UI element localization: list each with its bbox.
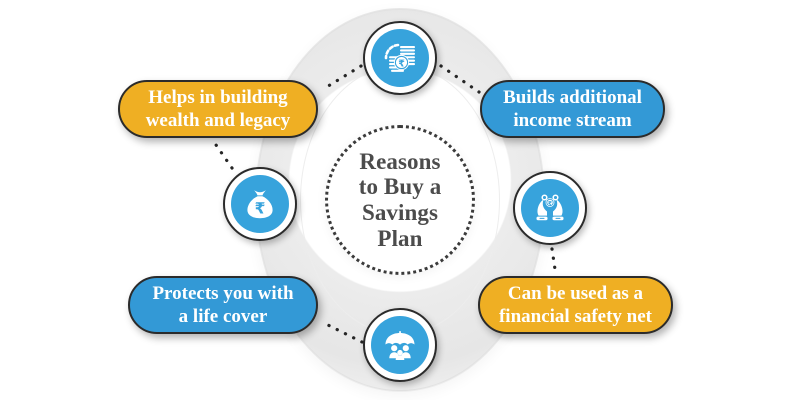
hub-title-line-2: to Buy a [359, 174, 442, 200]
label-line-2: a life cover [152, 305, 293, 328]
svg-text:₹: ₹ [398, 58, 405, 69]
node-left[interactable]: ₹ [223, 167, 297, 241]
connector-right-to-bottomright [552, 249, 556, 276]
label-pill-bottom-left[interactable]: Protects you with a life cover [128, 276, 318, 334]
label-line-2: financial safety net [499, 305, 652, 328]
label-line-1: Builds additional [503, 86, 642, 109]
hands-holding-coins-icon: ₹ [530, 188, 570, 228]
hub-title-line-4: Plan [359, 226, 442, 252]
label-pill-top-left[interactable]: Helps in building wealth and legacy [118, 80, 318, 138]
center-hub: Reasons to Buy a Savings Plan [325, 125, 475, 275]
hub-title-line-1: Reasons [359, 149, 442, 175]
label-pill-bottom-left-text: Protects you with a life cover [152, 282, 293, 328]
node-right-disc: ₹ [521, 179, 579, 237]
label-line-2: wealth and legacy [146, 109, 291, 132]
savings-plan-infographic: Reasons to Buy a Savings Plan [0, 0, 800, 400]
center-hub-title: Reasons to Buy a Savings Plan [349, 149, 452, 252]
svg-text:₹: ₹ [255, 199, 266, 217]
node-top[interactable]: ₹ [363, 21, 437, 95]
label-line-1: Helps in building [146, 86, 291, 109]
family-umbrella-icon [380, 325, 420, 365]
label-pill-top-left-text: Helps in building wealth and legacy [146, 86, 291, 132]
money-bag-rupee-icon: ₹ [240, 184, 280, 224]
svg-text:₹: ₹ [548, 200, 552, 207]
node-bottom-disc [371, 316, 429, 374]
label-line-1: Protects you with [152, 282, 293, 305]
node-right[interactable]: ₹ [513, 171, 587, 245]
label-line-1: Can be used as a [499, 282, 652, 305]
label-pill-top-right[interactable]: Builds additional income stream [480, 80, 665, 138]
connector-left-to-topleft [214, 142, 232, 168]
label-pill-bottom-right-text: Can be used as a financial safety net [499, 282, 652, 328]
node-top-disc: ₹ [371, 29, 429, 87]
node-left-disc: ₹ [231, 175, 289, 233]
node-bottom[interactable] [363, 308, 437, 382]
label-pill-top-right-text: Builds additional income stream [503, 86, 642, 132]
coin-stack-rupee-icon: ₹ [380, 38, 420, 78]
hub-title-line-3: Savings [359, 200, 442, 226]
label-pill-bottom-right[interactable]: Can be used as a financial safety net [478, 276, 673, 334]
label-line-2: income stream [503, 109, 642, 132]
